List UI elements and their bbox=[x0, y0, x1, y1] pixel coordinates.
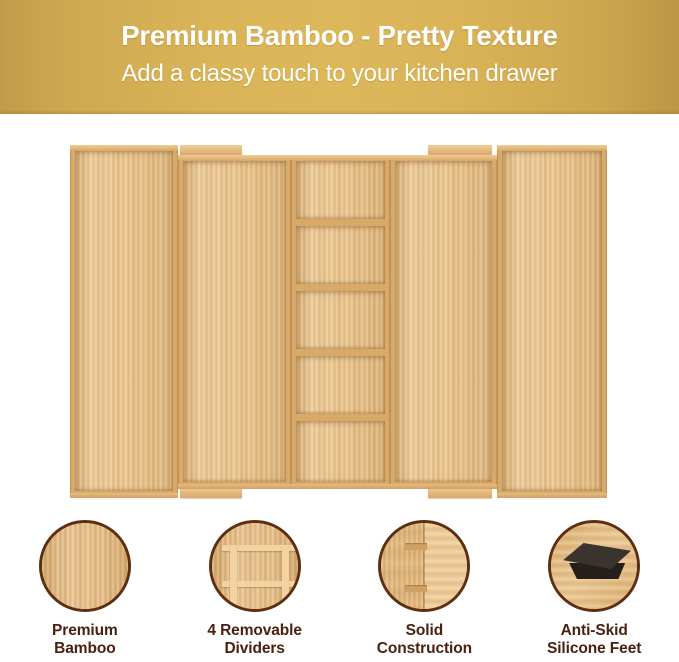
left-tray-well bbox=[75, 151, 173, 491]
joint-panel-right bbox=[424, 523, 467, 609]
solid-construction-joint-icon bbox=[378, 520, 470, 612]
feature-solid-construction: Solid Construction bbox=[340, 520, 510, 662]
center-divider-column bbox=[291, 155, 390, 489]
right-tray-well bbox=[502, 151, 602, 491]
divider-shelf-vertical-left bbox=[230, 545, 237, 611]
promo-banner: Premium Bamboo - Pretty Texture Add a cl… bbox=[0, 0, 679, 114]
feature-label-line1: Premium bbox=[52, 622, 118, 640]
center-compartment-4 bbox=[296, 356, 385, 414]
feature-label-solid-construction: Solid Construction bbox=[377, 622, 472, 659]
feature-label-line2: Bamboo bbox=[52, 640, 118, 658]
feature-label-line2: Construction bbox=[377, 640, 472, 658]
feature-label-line2: Dividers bbox=[207, 640, 302, 658]
center-compartment-3 bbox=[296, 291, 385, 349]
removable-dividers-icon bbox=[209, 520, 301, 612]
right-sliding-tray-compartment bbox=[497, 145, 607, 498]
joint-notch-top bbox=[405, 543, 427, 550]
feature-label-premium-bamboo: Premium Bamboo bbox=[52, 622, 118, 659]
feature-label-line1: Anti-Skid bbox=[547, 622, 641, 640]
silicone-foot-icon bbox=[548, 520, 640, 612]
center-compartment-1 bbox=[296, 161, 385, 219]
feature-label-removable-dividers: 4 Removable Dividers bbox=[207, 622, 302, 659]
product-image-bamboo-drawer-organizer bbox=[70, 143, 607, 500]
center-compartment-5 bbox=[296, 421, 385, 482]
divider-shelf-vertical-right bbox=[282, 545, 289, 611]
feature-anti-skid-feet: Anti-Skid Silicone Feet bbox=[509, 520, 679, 662]
feature-premium-bamboo: Premium Bamboo bbox=[0, 520, 170, 662]
banner-title: Premium Bamboo - Pretty Texture bbox=[0, 22, 679, 50]
feature-label-anti-skid-feet: Anti-Skid Silicone Feet bbox=[547, 622, 641, 659]
joint-panel-left bbox=[381, 523, 424, 609]
bamboo-grain-texture bbox=[42, 523, 128, 609]
feature-label-line2: Silicone Feet bbox=[547, 640, 641, 658]
feature-label-line1: Solid bbox=[377, 622, 472, 640]
joint-seam-line bbox=[423, 523, 425, 609]
left-center-compartment bbox=[178, 155, 291, 489]
right-center-well bbox=[395, 161, 492, 482]
left-center-well bbox=[183, 161, 286, 482]
joint-notch-bottom bbox=[405, 585, 427, 592]
feature-label-line1: 4 Removable bbox=[207, 622, 302, 640]
right-center-compartment bbox=[390, 155, 497, 489]
center-compartment-2 bbox=[296, 226, 385, 284]
banner-subtitle: Add a classy touch to your kitchen drawe… bbox=[0, 62, 679, 86]
feature-removable-dividers: 4 Removable Dividers bbox=[170, 520, 340, 662]
bamboo-grain-icon bbox=[39, 520, 131, 612]
feature-highlights: Premium Bamboo 4 Removable Dividers Soli… bbox=[0, 520, 679, 662]
left-sliding-tray-compartment bbox=[70, 145, 178, 498]
